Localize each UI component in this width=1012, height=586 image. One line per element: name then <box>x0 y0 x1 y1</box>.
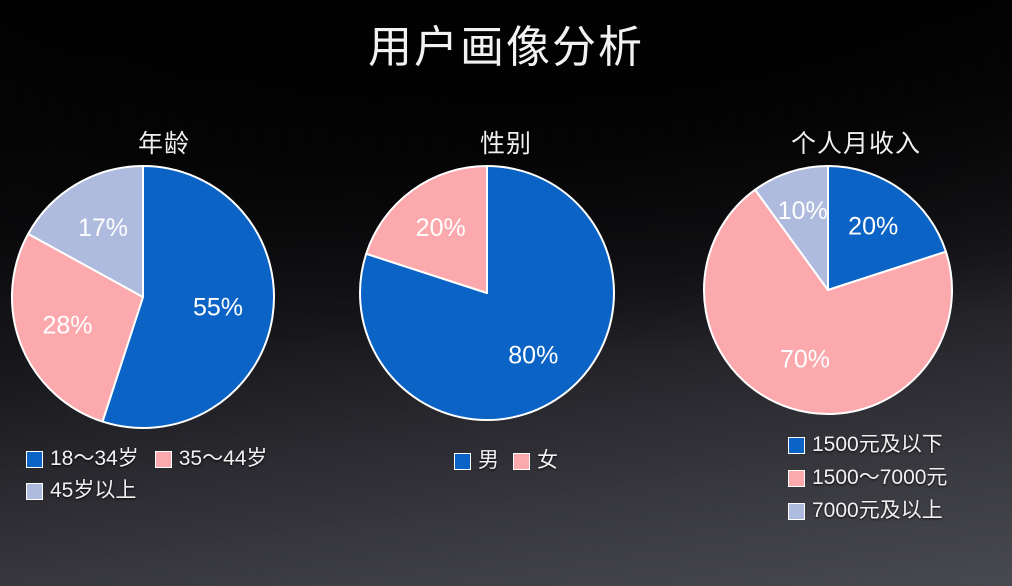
legend-swatch <box>788 503 805 520</box>
legend-item[interactable]: 18～34岁 <box>26 444 139 474</box>
legend-age: 18～34岁35～44岁45岁以上 <box>26 444 318 506</box>
chart-title-income: 个人月收入 <box>700 128 1012 162</box>
pie-slice-label: 55% <box>193 294 243 322</box>
pie-slice-label: 70% <box>780 345 830 373</box>
pie-slice-label: 28% <box>42 312 92 340</box>
legend-label: 18～34岁 <box>50 444 139 474</box>
pie-chart-income: 20%70%10% <box>700 162 1012 418</box>
pie-svg-gender: 80%20% <box>356 162 618 424</box>
chart-panel-income: 个人月收入 20%70%10% 1500元及以下1500～7000元7000元及… <box>700 128 1012 526</box>
legend-item[interactable]: 35～44岁 <box>155 444 268 474</box>
pie-svg-income: 20%70%10% <box>700 162 956 418</box>
chart-title-gender: 性别 <box>356 128 656 162</box>
legend-swatch <box>454 453 471 470</box>
legend-label: 45岁以上 <box>50 476 136 506</box>
pie-slice-label: 17% <box>78 214 128 242</box>
legend-swatch <box>513 453 530 470</box>
legend-label: 女 <box>537 446 558 476</box>
legend-label: 7000元及以上 <box>812 496 943 526</box>
chart-title-age: 年龄 <box>8 128 320 162</box>
slide-canvas: 用户画像分析 年龄 55%28%17% 18～34岁35～44岁45岁以上 性别… <box>0 0 1012 586</box>
legend-gender: 男女 <box>356 446 656 476</box>
legend-swatch <box>155 451 172 468</box>
legend-item[interactable]: 7000元及以上 <box>788 496 943 526</box>
pie-chart-gender: 80%20% <box>356 162 656 424</box>
chart-panel-age: 年龄 55%28%17% 18～34岁35～44岁45岁以上 <box>8 128 320 506</box>
legend-swatch <box>788 470 805 487</box>
pie-slice-label: 20% <box>416 214 466 242</box>
pie-slice-label: 80% <box>508 341 558 369</box>
legend-swatch <box>26 483 43 500</box>
legend-item[interactable]: 45岁以上 <box>26 476 136 506</box>
legend-income: 1500元及以下1500～7000元7000元及以上 <box>788 430 1012 526</box>
legend-item[interactable]: 1500元及以下 <box>788 430 943 460</box>
chart-panel-gender: 性别 80%20% 男女 <box>356 128 656 476</box>
legend-label: 男 <box>478 446 499 476</box>
pie-svg-age: 55%28%17% <box>8 162 278 432</box>
legend-label: 1500元及以下 <box>812 430 943 460</box>
legend-label: 35～44岁 <box>179 444 268 474</box>
pie-slice-label: 20% <box>848 212 898 240</box>
pie-chart-age: 55%28%17% <box>8 162 320 432</box>
legend-swatch <box>26 451 43 468</box>
page-title: 用户画像分析 <box>0 20 1012 76</box>
legend-item[interactable]: 男 <box>454 446 499 476</box>
legend-item[interactable]: 1500～7000元 <box>788 463 947 493</box>
legend-item[interactable]: 女 <box>513 446 558 476</box>
pie-slice-label: 10% <box>778 197 828 225</box>
legend-label: 1500～7000元 <box>812 463 947 493</box>
legend-swatch <box>788 437 805 454</box>
